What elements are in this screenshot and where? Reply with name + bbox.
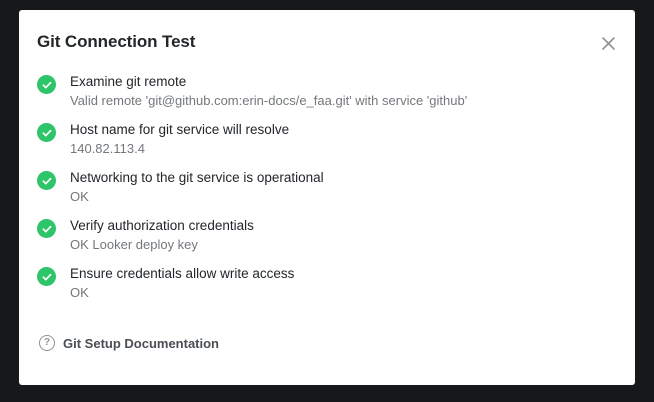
check-circle-icon bbox=[37, 219, 56, 238]
check-circle-icon bbox=[37, 123, 56, 142]
check-title: Host name for git service will resolve bbox=[70, 120, 635, 139]
check-text: Verify authorization credentials OK Look… bbox=[37, 216, 635, 255]
list-item: Networking to the git service is operati… bbox=[19, 168, 635, 216]
check-text: Networking to the git service is operati… bbox=[37, 168, 635, 207]
check-list: Examine git remote Valid remote 'git@git… bbox=[19, 72, 635, 312]
check-detail: OK Looker deploy key bbox=[70, 235, 635, 255]
check-text: Examine git remote Valid remote 'git@git… bbox=[37, 72, 635, 111]
page-title: Git Connection Test bbox=[37, 32, 195, 52]
list-item: Ensure credentials allow write access OK bbox=[19, 264, 635, 312]
doc-link-label: Git Setup Documentation bbox=[63, 336, 219, 351]
list-item: Verify authorization credentials OK Look… bbox=[19, 216, 635, 264]
check-title: Verify authorization credentials bbox=[70, 216, 635, 235]
check-title: Networking to the git service is operati… bbox=[70, 168, 635, 187]
list-item: Host name for git service will resolve 1… bbox=[19, 120, 635, 168]
check-detail: OK bbox=[70, 187, 635, 207]
check-circle-icon bbox=[37, 171, 56, 190]
check-text: Ensure credentials allow write access OK bbox=[37, 264, 635, 303]
git-connection-test-dialog: Git Connection Test Examine git remote V… bbox=[19, 10, 635, 385]
git-setup-documentation-link[interactable]: ? Git Setup Documentation bbox=[39, 335, 219, 351]
check-detail: 140.82.113.4 bbox=[70, 139, 635, 159]
dialog-header: Git Connection Test bbox=[19, 10, 635, 72]
check-title: Ensure credentials allow write access bbox=[70, 264, 635, 283]
check-circle-icon bbox=[37, 75, 56, 94]
check-detail: OK bbox=[70, 283, 635, 303]
close-button[interactable] bbox=[595, 30, 621, 56]
close-icon bbox=[602, 37, 615, 50]
list-item: Examine git remote Valid remote 'git@git… bbox=[19, 72, 635, 120]
help-circle-icon: ? bbox=[39, 335, 55, 351]
check-title: Examine git remote bbox=[70, 72, 635, 91]
check-detail: Valid remote 'git@github.com:erin-docs/e… bbox=[70, 91, 635, 111]
check-circle-icon bbox=[37, 267, 56, 286]
dialog-footer: ? Git Setup Documentation bbox=[19, 327, 635, 385]
check-text: Host name for git service will resolve 1… bbox=[37, 120, 635, 159]
